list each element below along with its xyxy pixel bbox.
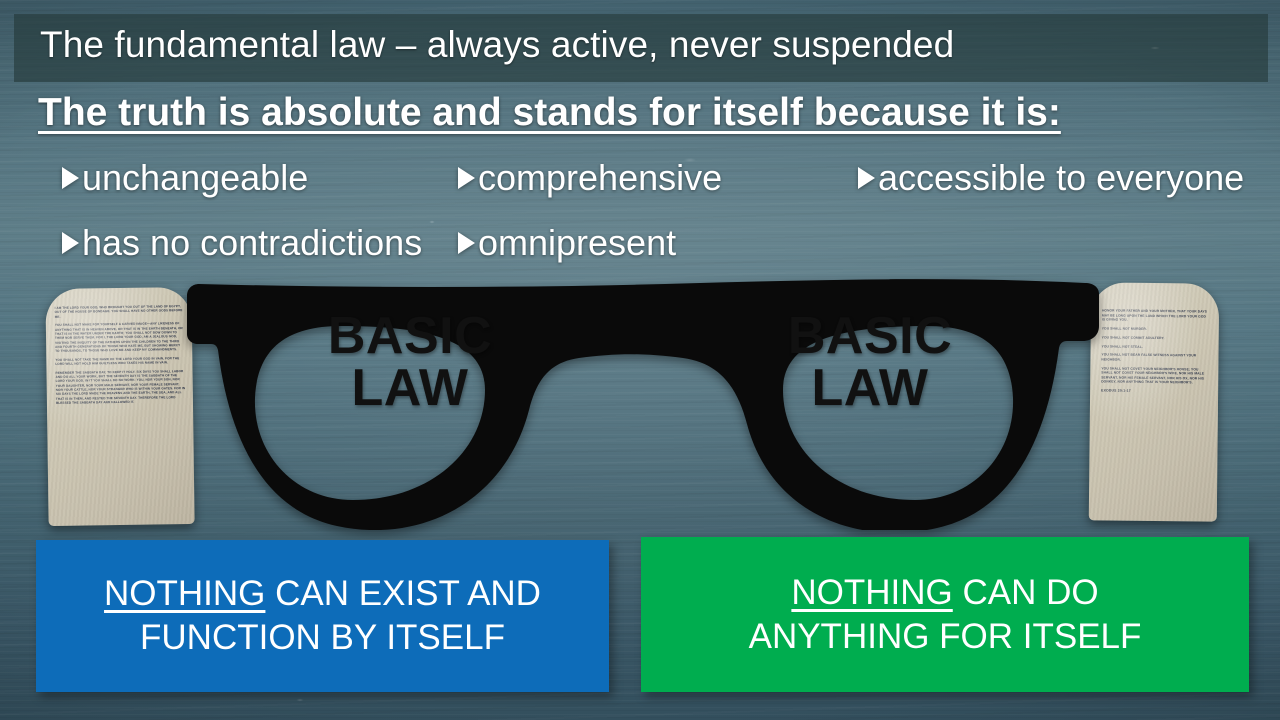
tablet-paragraph: YOU SHALL NOT STEAL. bbox=[1102, 344, 1210, 350]
list-item-label: comprehensive bbox=[478, 158, 722, 198]
left-lens-label: BASIC LAW bbox=[315, 310, 505, 414]
banner-green-emphasis: NOTHING bbox=[791, 573, 952, 612]
stone-tablet-left: I AM THE LORD YOUR GOD, WHO BROUGHT YOU … bbox=[45, 287, 194, 526]
tablet-paragraph: YOU SHALL NOT BEAR FALSE WITNESS AGAINST… bbox=[1101, 353, 1209, 363]
tablet-paragraph: I AM THE LORD YOUR GOD, WHO BROUGHT YOU … bbox=[55, 304, 185, 319]
list-item-label: unchangeable bbox=[82, 158, 308, 198]
list-item: unchangeable bbox=[62, 158, 308, 198]
triangle-right-icon bbox=[858, 167, 875, 189]
scripture-reference: EXODUS 20:1-17 bbox=[1101, 389, 1209, 395]
left-lens-line-2: LAW bbox=[315, 362, 505, 414]
list-item-label: omnipresent bbox=[478, 223, 676, 263]
slide-canvas: The fundamental law – always active, nev… bbox=[0, 0, 1280, 720]
stone-tablet-left-text: I AM THE LORD YOUR GOD, WHO BROUGHT YOU … bbox=[55, 304, 186, 409]
banner-green-line-1-rest: CAN DO bbox=[953, 573, 1099, 612]
tablet-paragraph: YOU SHALL NOT COMMIT ADULTERY. bbox=[1102, 335, 1210, 341]
list-item-label: has no contradictions bbox=[82, 223, 422, 263]
left-lens-line-1: BASIC bbox=[315, 310, 505, 362]
banner-blue-emphasis: NOTHING bbox=[104, 574, 265, 613]
page-subtitle: The truth is absolute and stands for its… bbox=[38, 90, 1061, 136]
right-lens-line-2: LAW bbox=[775, 362, 965, 414]
triangle-right-icon bbox=[458, 167, 475, 189]
list-item: has no contradictions bbox=[62, 223, 422, 263]
list-item: omnipresent bbox=[458, 223, 676, 263]
right-lens-line-1: BASIC bbox=[775, 310, 965, 362]
list-item-label: accessible to everyone bbox=[878, 158, 1244, 198]
triangle-right-icon bbox=[458, 232, 475, 254]
banner-blue: NOTHING CAN EXIST AND FUNCTION BY ITSELF bbox=[36, 540, 609, 692]
tablet-paragraph: REMEMBER THE SABBATH DAY, TO KEEP IT HOL… bbox=[55, 369, 185, 406]
stone-tablet-right-text: HONOR YOUR FATHER AND YOUR MOTHER, THAT … bbox=[1101, 308, 1210, 398]
list-item: accessible to everyone bbox=[858, 158, 1244, 198]
tablet-paragraph: HONOR YOUR FATHER AND YOUR MOTHER, THAT … bbox=[1102, 308, 1210, 323]
tablet-paragraph: YOU SHALL NOT MURDER. bbox=[1102, 326, 1210, 332]
page-title: The fundamental law – always active, nev… bbox=[40, 22, 1200, 68]
triangle-right-icon bbox=[62, 232, 79, 254]
stone-tablet-right: HONOR YOUR FATHER AND YOUR MOTHER, THAT … bbox=[1089, 282, 1219, 521]
banner-blue-line-2: FUNCTION BY ITSELF bbox=[140, 618, 505, 657]
banner-green-line-2: ANYTHING FOR ITSELF bbox=[749, 617, 1142, 656]
tablet-paragraph: YOU SHALL NOT TAKE THE NAME OF THE LORD … bbox=[55, 356, 185, 367]
banner-green: NOTHING CAN DO ANYTHING FOR ITSELF bbox=[641, 537, 1249, 692]
banner-blue-line-1-rest: CAN EXIST AND bbox=[265, 574, 541, 613]
triangle-right-icon bbox=[62, 167, 79, 189]
tablet-paragraph: YOU SHALL NOT COVET YOUR NEIGHBOR'S HOUS… bbox=[1101, 366, 1209, 386]
tablet-paragraph: YOU SHALL NOT MAKE FOR YOURSELF A CARVED… bbox=[55, 321, 185, 353]
right-lens-label: BASIC LAW bbox=[775, 310, 965, 414]
list-item: comprehensive bbox=[458, 158, 722, 198]
